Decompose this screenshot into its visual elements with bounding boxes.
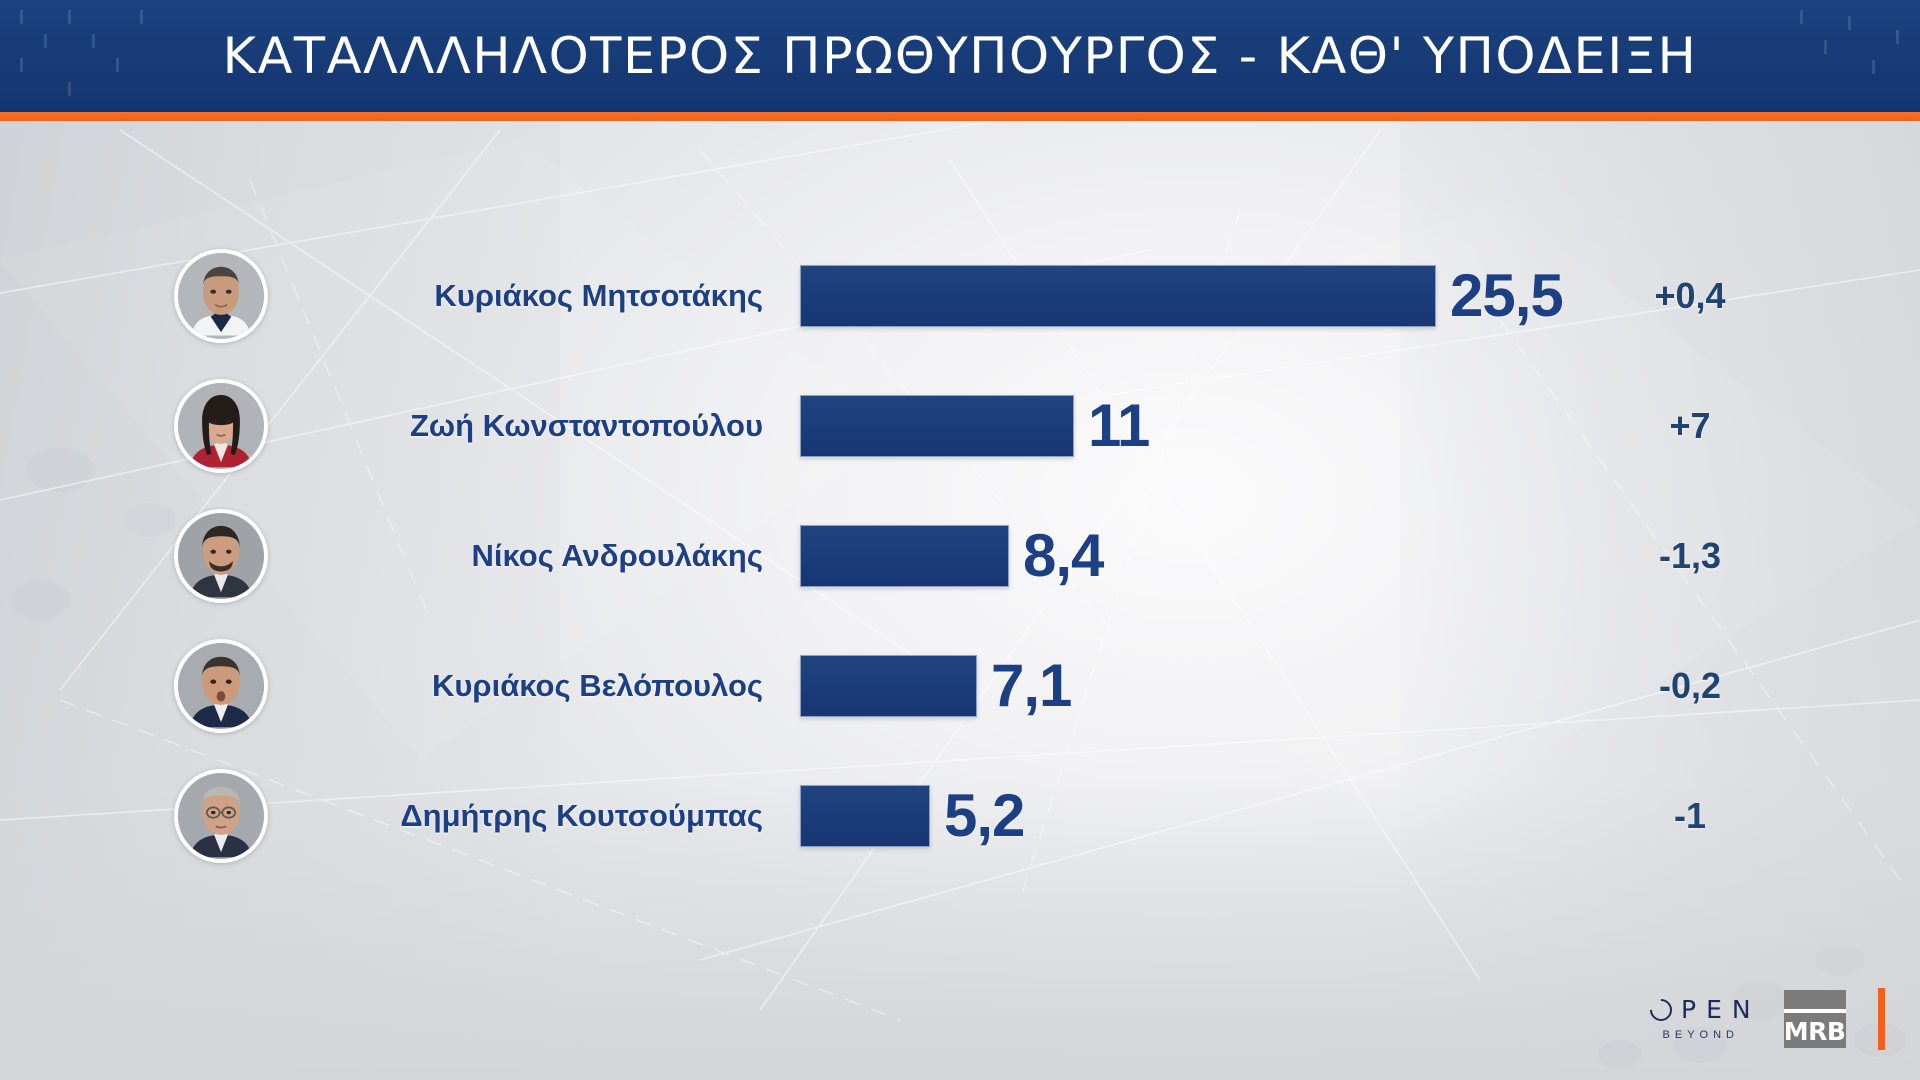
bar-value-label: 7,1	[991, 656, 1071, 716]
open-letter-e: E	[1706, 997, 1723, 1022]
open-letter-n: N	[1732, 997, 1752, 1022]
bar-value-label: 11	[1088, 396, 1149, 456]
table-row: Κυριάκος Βελόπουλος 7,1 -0,2	[0, 621, 1920, 751]
bar	[800, 395, 1074, 457]
table-row: Κυριάκος Μητσοτάκης 25,5 +0,4	[0, 231, 1920, 361]
delta-value: -1,3	[1659, 535, 1721, 577]
table-row: Νίκος Ανδρουλάκης 8,4 -1,3	[0, 491, 1920, 621]
bar-value-label: 8,4	[1023, 526, 1103, 586]
avatar	[174, 639, 268, 733]
portrait-dimitris-koutsoumpas-icon	[178, 773, 264, 859]
bar-group: 7,1	[800, 621, 1071, 751]
portrait-zoi-konstantopoulou-icon	[178, 383, 264, 469]
bar	[800, 525, 1009, 587]
open-wordmark: P E N	[1650, 997, 1752, 1022]
delta-value: -1	[1674, 795, 1706, 837]
delta-value: +7	[1669, 405, 1710, 447]
candidate-name: Δημήτρης Κουτσούμπας	[400, 798, 763, 834]
portrait-nikos-androulakis-icon	[178, 513, 264, 599]
avatar	[174, 379, 268, 473]
bar-value-label: 5,2	[944, 786, 1024, 846]
candidate-name: Κυριάκος Βελόπουλος	[432, 668, 763, 704]
candidate-name: Κυριάκος Μητσοτάκης	[434, 278, 763, 314]
open-tagline: BEYOND	[1663, 1029, 1739, 1041]
logo-bar: P E N BEYOND MRB	[1650, 988, 1885, 1050]
delta-value: -0,2	[1659, 665, 1721, 707]
candidate-name: Νίκος Ανδρουλάκης	[472, 538, 763, 574]
avatar	[174, 509, 268, 603]
bar-group: 11	[800, 361, 1149, 491]
portrait-kyriakos-mitsotakis-icon	[178, 253, 264, 339]
bar-group: 8,4	[800, 491, 1103, 621]
header-banner: ΚΑΤΑΛΛΛΗΛΟΤΕΡΟΣ ΠΡΩΘΥΠΟΥΡΓΟΣ - ΚΑΘ' ΥΠΟΔ…	[0, 0, 1920, 112]
header-accent-rule	[0, 112, 1920, 121]
mrb-wordmark: MRB	[1784, 1019, 1846, 1044]
portrait-kyriakos-velopoulos-icon	[178, 643, 264, 729]
mrb-logo: MRB	[1784, 990, 1846, 1048]
delta-value: +0,4	[1654, 275, 1725, 317]
bar	[800, 655, 977, 717]
candidate-name: Ζωή Κωνσταντοπούλου	[410, 408, 763, 444]
bar-chart: Κυριάκος Μητσοτάκης 25,5 +0,4	[0, 121, 1920, 951]
page-title: ΚΑΤΑΛΛΛΗΛΟΤΕΡΟΣ ΠΡΩΘΥΠΟΥΡΓΟΣ - ΚΑΘ' ΥΠΟΔ…	[223, 27, 1698, 85]
bar-value-label: 25,5	[1450, 266, 1563, 326]
open-letter-p: P	[1681, 997, 1697, 1022]
open-o-icon	[1645, 994, 1676, 1025]
bar	[800, 785, 930, 847]
bar-group: 5,2	[800, 751, 1024, 881]
avatar	[174, 769, 268, 863]
broadcast-poll-graphic: ΚΑΤΑΛΛΛΗΛΟΤΕΡΟΣ ΠΡΩΘΥΠΟΥΡΓΟΣ - ΚΑΘ' ΥΠΟΔ…	[0, 0, 1920, 1080]
bar-group: 25,5	[800, 231, 1563, 361]
table-row: Δημήτρης Κουτσούμπας 5,2 -1	[0, 751, 1920, 881]
orange-accent-bar	[1878, 988, 1885, 1050]
open-beyond-logo: P E N BEYOND	[1650, 997, 1752, 1041]
avatar	[174, 249, 268, 343]
table-row: Ζωή Κωνσταντοπούλου 11 +7	[0, 361, 1920, 491]
bar	[800, 265, 1436, 327]
